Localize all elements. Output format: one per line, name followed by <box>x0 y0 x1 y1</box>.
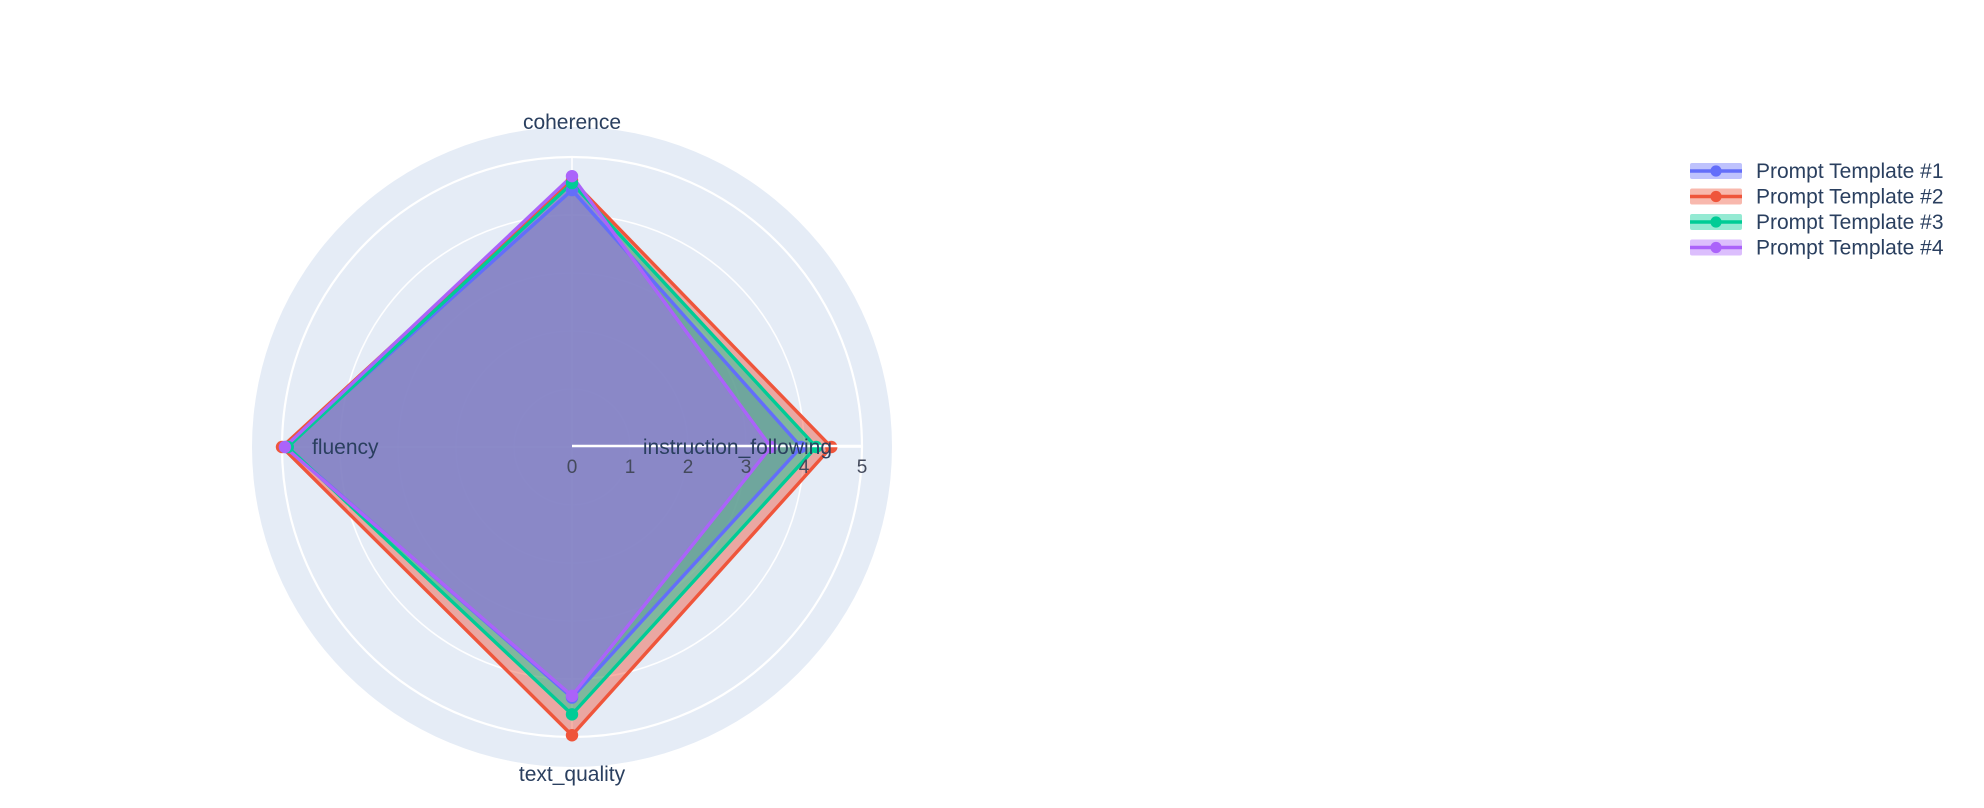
radar-chart-svg: 012345 coherencefluencytext_qualityinstr… <box>0 0 1984 808</box>
series-marker-2-text_quality <box>566 729 578 741</box>
legend-label-2: Prompt Template #2 <box>1756 186 1944 209</box>
legend-swatch-marker-2 <box>1710 191 1721 202</box>
radial-tick-label-1: 1 <box>625 457 636 478</box>
axis-label-coherence: coherence <box>523 111 621 134</box>
radial-tick-label-2: 2 <box>683 457 694 478</box>
axis-label-fluency: fluency <box>312 436 379 459</box>
legend-label-1: Prompt Template #1 <box>1756 160 1944 183</box>
series-marker-3-text_quality <box>566 708 578 720</box>
legend-swatch-marker-1 <box>1710 165 1721 176</box>
legend-label-4: Prompt Template #4 <box>1756 237 1944 260</box>
axis-label-instruction_following: instruction_following <box>643 436 832 459</box>
legend-item-4[interactable]: Prompt Template #4 <box>1690 237 1944 260</box>
radial-tick-label-5: 5 <box>857 457 868 478</box>
radial-tick-label-3: 3 <box>741 457 752 478</box>
legend-item-1[interactable]: Prompt Template #1 <box>1690 160 1944 183</box>
legend-swatch-marker-4 <box>1710 242 1721 253</box>
radar-chart-figure: 012345 coherencefluencytext_qualityinstr… <box>0 0 1984 808</box>
axis-label-text_quality: text_quality <box>519 763 626 786</box>
radial-tick-label-4: 4 <box>799 457 810 478</box>
legend-label-3: Prompt Template #3 <box>1756 211 1944 234</box>
radial-tick-label-0: 0 <box>567 457 578 478</box>
legend-item-2[interactable]: Prompt Template #2 <box>1690 186 1944 209</box>
series-marker-4-fluency <box>279 441 291 453</box>
series-marker-4-coherence <box>566 170 578 182</box>
legend-swatch-marker-3 <box>1710 216 1721 227</box>
chart-legend: Prompt Template #1Prompt Template #2Prom… <box>1690 160 1944 260</box>
series-marker-4-text_quality <box>566 690 578 702</box>
legend-item-3[interactable]: Prompt Template #3 <box>1690 211 1944 234</box>
